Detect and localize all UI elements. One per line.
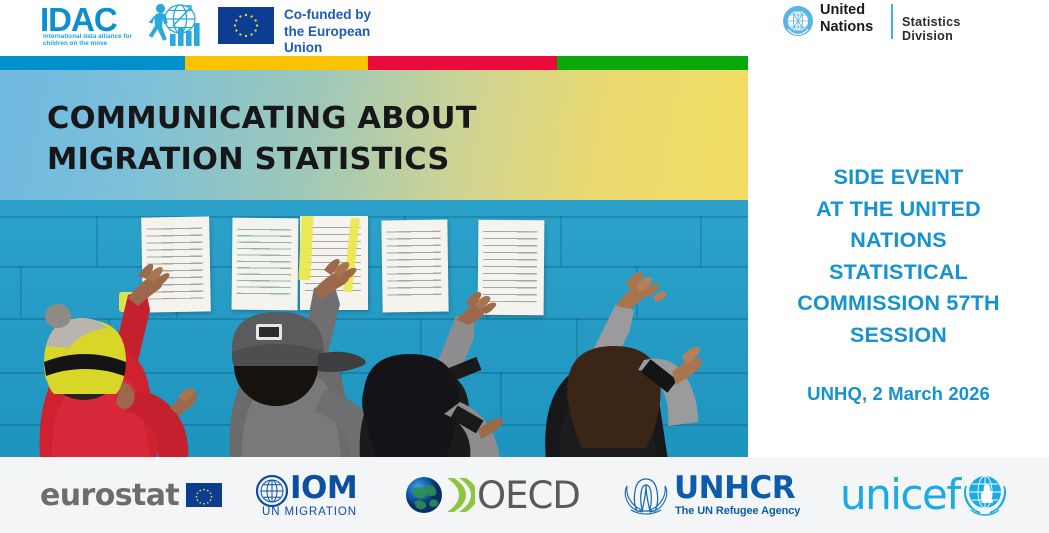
unhcr-subtitle: The UN Refugee Agency — [675, 505, 800, 517]
eu-text-line2: the European Union — [284, 24, 400, 57]
eu-text-line1: Co-funded by — [284, 7, 400, 24]
iom-wordmark: IOM — [290, 471, 357, 505]
oecd-globe-icon — [405, 476, 443, 514]
unhcr-wordmark: UNHCR — [674, 472, 795, 505]
brand-color-bar — [0, 56, 748, 70]
presentation-slide: COMMUNICATING ABOUT MIGRATION STATISTICS — [0, 70, 748, 457]
logo-eurostat: eurostat — [40, 457, 222, 533]
slide-title-band: COMMUNICATING ABOUT MIGRATION STATISTICS — [0, 70, 748, 200]
event-title-line-4: STATISTICAL — [758, 257, 1039, 289]
slide-title: COMMUNICATING ABOUT MIGRATION STATISTICS — [47, 98, 647, 180]
idac-logo: IDAC international data alliance for chi… — [40, 3, 205, 51]
event-title-line-1: SIDE EVENT — [758, 162, 1039, 194]
event-title-line-3: NATIONS — [758, 225, 1039, 257]
un-name: United Nations — [820, 2, 873, 36]
eu-cofunded-logo: Co-funded by the European Union — [218, 5, 400, 45]
slide-canvas: You can no longer unmute! IDAC internati… — [0, 0, 1049, 533]
iom-globe-icon — [256, 475, 288, 507]
oecd-wordmark: OECD — [477, 474, 580, 517]
logo-iom: IOM UN MIGRATION — [256, 457, 374, 533]
event-title: SIDE EVENT AT THE UNITED NATIONS STATIST… — [758, 162, 1039, 351]
eu-cofunded-text: Co-funded by the European Union — [284, 7, 400, 57]
color-segment-green — [557, 56, 748, 70]
oecd-chevron-icon — [445, 476, 475, 514]
logo-unhcr: UNHCR The UN Refugee Agency — [622, 457, 802, 533]
eu-stars-icon — [218, 7, 274, 44]
un-name-line2: Nations — [820, 19, 873, 36]
iom-subtitle: UN MIGRATION — [262, 506, 357, 518]
logo-oecd: OECD — [405, 457, 580, 533]
un-emblem-icon — [782, 5, 814, 37]
wall-mortar-line — [700, 216, 702, 266]
color-segment-yellow — [185, 56, 368, 70]
header-logo-bar: IDAC international data alliance for chi… — [0, 0, 1049, 56]
logo-unicef: unicef — [840, 457, 1020, 533]
partner-logos: eurostat — [0, 457, 1049, 533]
unicef-wordmark: unicef — [840, 474, 960, 516]
slide-title-line2: MIGRATION STATISTICS — [47, 139, 647, 180]
slide-title-line1: COMMUNICATING ABOUT — [47, 98, 647, 139]
event-date: UNHQ, 2 March 2026 — [758, 383, 1039, 405]
event-title-line-2: AT THE UNITED — [758, 194, 1039, 226]
un-statistics-division-logo: United Nations Statistics Division — [782, 2, 1010, 42]
slide-photo — [0, 200, 748, 457]
unicef-emblem-icon — [961, 472, 1009, 518]
person-striped-sleeve — [520, 260, 748, 457]
wall-mortar-line — [560, 216, 562, 266]
un-name-line1: United — [820, 2, 873, 19]
event-title-line-6: SESSION — [758, 320, 1039, 352]
color-segment-blue — [0, 56, 185, 70]
idac-wordmark: IDAC — [40, 3, 117, 36]
unhcr-emblem-icon — [622, 475, 670, 515]
wall-mortar-line — [0, 216, 748, 218]
event-title-line-5: COMMISSION 57TH — [758, 288, 1039, 320]
event-info-panel: SIDE EVENT AT THE UNITED NATIONS STATIST… — [748, 70, 1049, 457]
eu-flag-icon — [186, 483, 222, 507]
eurostat-wordmark: eurostat — [40, 478, 179, 513]
idac-globe-figure-chart-icon — [143, 2, 205, 50]
color-segment-red — [368, 56, 557, 70]
idac-tagline: international data alliance for children… — [43, 33, 147, 48]
partner-logo-footer: eurostat — [0, 457, 1049, 533]
un-divider — [891, 4, 893, 39]
un-division-label: Statistics Division — [902, 15, 1010, 43]
